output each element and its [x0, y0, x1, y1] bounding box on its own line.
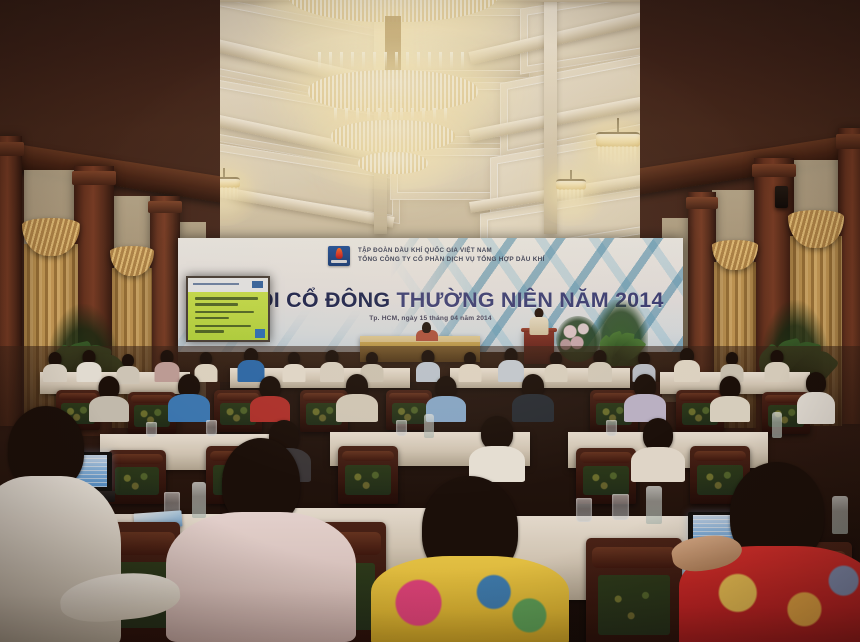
- person-body: [168, 394, 210, 422]
- person-body: [43, 364, 67, 382]
- slide-header-logo: [252, 281, 263, 288]
- wall-speaker-icon: [775, 186, 788, 208]
- chair-crest: [389, 393, 429, 400]
- audience-member: [322, 350, 342, 382]
- water-glass: [576, 498, 592, 522]
- audience-member: [340, 374, 374, 422]
- person-body: [674, 360, 700, 382]
- presidium-attendee-head: [422, 322, 431, 333]
- crystal-chandelier: [268, 0, 518, 210]
- chair-inlay: [598, 575, 671, 635]
- person-body: [765, 362, 790, 382]
- chair-crest: [131, 395, 173, 403]
- water-bottle: [424, 414, 434, 438]
- slide-bullet-line: [195, 317, 229, 319]
- dining-chair: [108, 450, 166, 504]
- audience-member: [172, 374, 206, 422]
- person-body: [710, 396, 750, 422]
- chair-crest: [592, 547, 676, 568]
- slide-bullet-line: [195, 297, 257, 299]
- slide-bullet-line: [195, 325, 251, 327]
- petrovietnam-logo-icon: [328, 246, 350, 266]
- person-head: [481, 416, 513, 450]
- water-glass: [606, 420, 617, 436]
- audience-member: [516, 374, 550, 422]
- person-body: [250, 396, 290, 422]
- audience-member: [92, 376, 126, 422]
- person-body: [336, 394, 378, 422]
- banner-org-line-1: TẬP ĐOÀN DẦU KHÍ QUỐC GIA VIỆT NAM: [358, 247, 492, 254]
- audience-member: [460, 352, 480, 382]
- water-glass: [146, 422, 157, 437]
- chandelier-tier-middle: [308, 70, 478, 112]
- chair-inlay: [583, 466, 629, 495]
- person-head: [806, 372, 826, 394]
- audience-member: [636, 418, 680, 482]
- audience-area: [0, 346, 860, 642]
- person-body: [797, 392, 835, 424]
- dining-chair: [338, 446, 398, 504]
- person-body: [166, 512, 356, 642]
- water-bottle: [772, 412, 782, 438]
- audience-member: [590, 350, 610, 382]
- slide-header-bar: [193, 283, 239, 284]
- lamp-glow: [536, 170, 606, 226]
- audience-member: [766, 350, 788, 382]
- water-bottle: [646, 486, 662, 524]
- chair-inlay: [345, 465, 391, 495]
- banner-org-line-2: TỔNG CÔNG TY CỔ PHẦN DỊCH VỤ TỔNG HỢP DẦ…: [358, 256, 545, 263]
- chair-crest: [694, 451, 747, 461]
- slide-bullet-line: [195, 303, 238, 305]
- chandelier-tier-bottom: [358, 152, 428, 174]
- chair-crest: [580, 452, 633, 462]
- slide-header: [188, 278, 268, 292]
- person-body: [588, 362, 612, 382]
- flame-icon: [336, 248, 343, 258]
- chair-crest: [111, 454, 162, 464]
- dining-chair: [586, 538, 682, 642]
- audience-member-standing: [800, 372, 832, 424]
- speaker-at-podium: [528, 308, 550, 334]
- audience-member-foreground: [196, 438, 326, 642]
- audience-member: [474, 416, 520, 482]
- audience-member: [44, 352, 66, 382]
- pendant-lamp: [556, 170, 586, 230]
- audience-member: [430, 376, 462, 422]
- speaker-torso: [530, 317, 549, 335]
- person-body: [89, 396, 129, 422]
- audience-member: [628, 374, 662, 422]
- audience-member: [676, 348, 698, 382]
- logo-wordmark: [331, 260, 347, 263]
- person-body: [371, 556, 569, 642]
- conference-hall-photo: TẬP ĐOÀN DẦU KHÍ QUỐC GIA VIỆT NAM TỔNG …: [0, 0, 860, 642]
- water-glass: [396, 420, 407, 436]
- water-glass: [206, 420, 217, 436]
- projector-screen: [186, 276, 270, 342]
- audience-member: [254, 376, 286, 422]
- chair-inlay: [115, 467, 159, 495]
- person-body: [631, 447, 685, 482]
- chair-crest: [342, 451, 395, 461]
- slide-bullet-line: [195, 311, 254, 313]
- slide-corner-mark: [255, 329, 265, 338]
- chandelier-tier-lower: [331, 120, 455, 152]
- slide-bullet-line: [195, 330, 224, 332]
- water-glass: [612, 494, 629, 520]
- chandelier-candles: [318, 52, 468, 70]
- audience-member: [284, 352, 304, 382]
- audience-member-foreground: [396, 476, 544, 642]
- audience-member: [714, 376, 746, 422]
